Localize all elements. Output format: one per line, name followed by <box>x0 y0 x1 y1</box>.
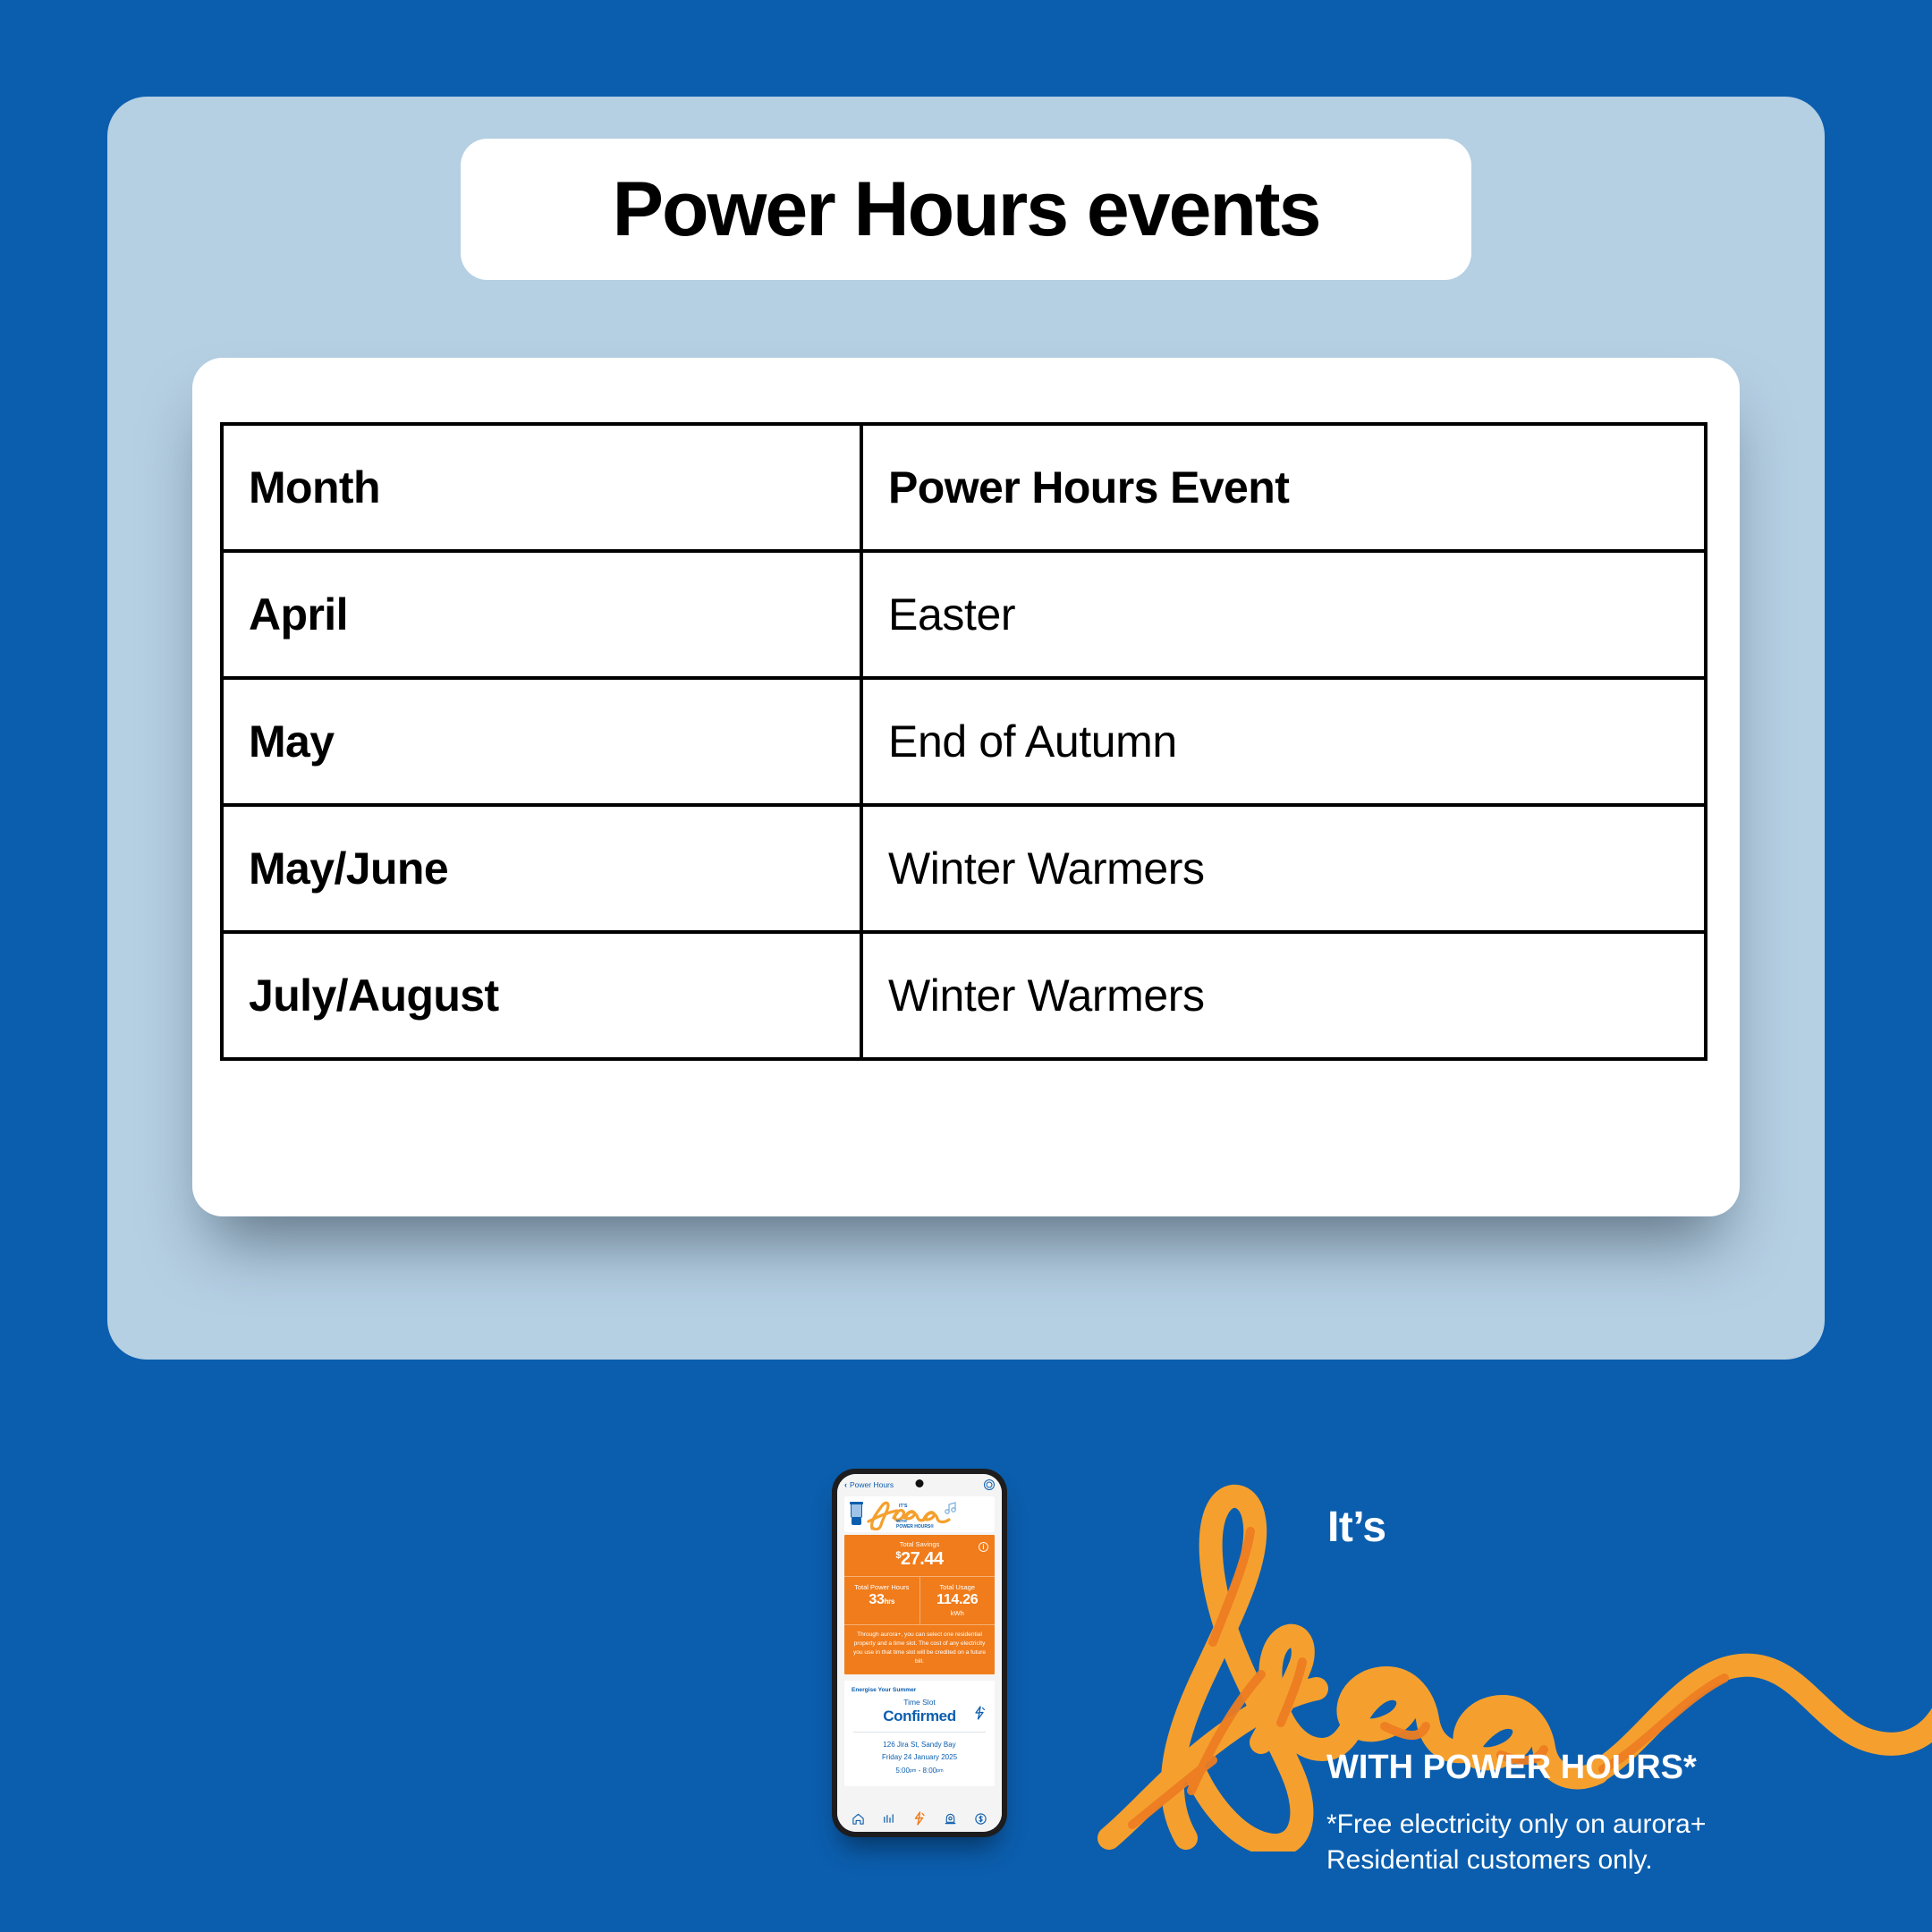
card-divider <box>853 1732 986 1733</box>
slot-time-start: 5:00 <box>895 1767 910 1775</box>
bottom-nav-bar <box>837 1805 1002 1832</box>
with-power-hours-label: WITH POWER HOURS* <box>1326 1749 1697 1787</box>
phone-screen: ‹ Power Hours IT’S WI <box>837 1474 1002 1832</box>
info-icon[interactable]: i <box>979 1542 988 1552</box>
cell-event: Easter <box>861 551 1706 678</box>
total-savings-amount: $27.44 <box>844 1549 995 1570</box>
disclaimer-line-2: Residential customers only. <box>1326 1843 1706 1878</box>
cell-month: July/August <box>222 932 861 1059</box>
stat-total-power-hours: Total Power Hours 33hrs <box>844 1577 919 1624</box>
table-row: May End of Autumn <box>222 678 1706 805</box>
banner-free-lockup: IT’S WITH POWER HOURS® <box>867 1496 989 1532</box>
nav-meter-icon[interactable] <box>943 1811 957 1826</box>
slot-status-badge: Confirmed <box>852 1707 987 1725</box>
power-hours-events-table: Month Power Hours Event April Easter May… <box>220 422 1707 1061</box>
stats-row: Total Power Hours 33hrs Total Usage 114.… <box>844 1576 995 1624</box>
back-button[interactable]: ‹ Power Hours <box>844 1480 894 1489</box>
column-header-event: Power Hours Event <box>861 424 1706 551</box>
total-savings-block: Total Savings $27.44 i <box>844 1535 995 1576</box>
disclaimer-line-1: *Free electricity only on aurora+ <box>1326 1807 1706 1843</box>
free-promo-banner: IT’S WITH POWER HOURS® <box>844 1496 995 1532</box>
its-label: It’s <box>1327 1503 1386 1552</box>
slot-date: Friday 24 January 2025 <box>852 1751 987 1765</box>
disclaimer-text: *Free electricity only on aurora+ Reside… <box>1326 1807 1706 1878</box>
stat-suffix: hrs <box>885 1597 895 1606</box>
nav-home-icon[interactable] <box>851 1811 865 1826</box>
savings-note: Through aurora+, you can select one resi… <box>844 1624 995 1674</box>
slot-time-end-meridiem: pm <box>936 1768 944 1774</box>
blender-icon <box>850 1502 863 1527</box>
cell-event: Winter Warmers <box>861 805 1706 932</box>
campaign-eyebrow: Energise Your Summer <box>852 1687 987 1693</box>
cell-month: May <box>222 678 861 805</box>
stat-total-usage: Total Usage 114.26 kWh <box>919 1577 996 1624</box>
nav-power-hours-bolt-icon[interactable] <box>912 1811 927 1826</box>
slot-details: 126 Jira St, Sandy Bay Friday 24 January… <box>852 1739 987 1778</box>
slot-status-block: Time Slot Confirmed <box>852 1698 987 1725</box>
column-header-month: Month <box>222 424 861 551</box>
savings-summary-panel: Total Savings $27.44 i Total Power Hours… <box>844 1535 995 1674</box>
back-label: Power Hours <box>850 1480 894 1489</box>
total-savings-label: Total Savings <box>844 1540 995 1548</box>
slot-time-end: 8:00 <box>923 1767 937 1775</box>
slot-time-separator: - <box>916 1767 922 1775</box>
table-row: May/June Winter Warmers <box>222 805 1706 932</box>
table-row: July/August Winter Warmers <box>222 932 1706 1059</box>
table-header-row: Month Power Hours Event <box>222 424 1706 551</box>
nav-usage-chart-icon[interactable] <box>882 1811 896 1826</box>
slot-time: 5:00pm - 8:00pm <box>852 1765 987 1778</box>
stat-label: Total Power Hours <box>846 1583 918 1591</box>
nav-billing-dollar-icon[interactable] <box>974 1811 988 1826</box>
account-circle-icon[interactable] <box>984 1479 995 1490</box>
free-script-cord-icon <box>966 1431 1932 1851</box>
svg-text:POWER HOURS®: POWER HOURS® <box>896 1523 934 1529</box>
stat-number: 33 <box>869 1592 884 1607</box>
table-row: April Easter <box>222 551 1706 678</box>
stat-value: 114.26 <box>922 1592 994 1608</box>
music-note-icon <box>945 1503 955 1513</box>
svg-text:WITH: WITH <box>896 1519 907 1523</box>
page-title: Power Hours events <box>613 171 1320 248</box>
stat-label: Total Usage <box>922 1583 994 1591</box>
svg-text:IT’S: IT’S <box>899 1504 908 1509</box>
chevron-left-icon: ‹ <box>844 1481 847 1489</box>
stat-value: 33hrs <box>846 1592 918 1608</box>
slot-address: 126 Jira St, Sandy Bay <box>852 1739 987 1752</box>
amount-value: 27.44 <box>901 1549 944 1569</box>
phone-mockup: ‹ Power Hours IT’S WI <box>832 1469 1007 1837</box>
cell-month: May/June <box>222 805 861 932</box>
cell-event: End of Autumn <box>861 678 1706 805</box>
cell-month: April <box>222 551 861 678</box>
time-slot-label: Time Slot <box>852 1698 987 1707</box>
phone-camera-notch <box>916 1479 924 1487</box>
stat-unit: kWh <box>922 1609 994 1617</box>
title-pill: Power Hours events <box>461 139 1471 280</box>
lightning-bolt-icon <box>973 1706 986 1720</box>
time-slot-card: Energise Your Summer Time Slot Confirmed… <box>844 1681 995 1786</box>
cell-event: Winter Warmers <box>861 932 1706 1059</box>
